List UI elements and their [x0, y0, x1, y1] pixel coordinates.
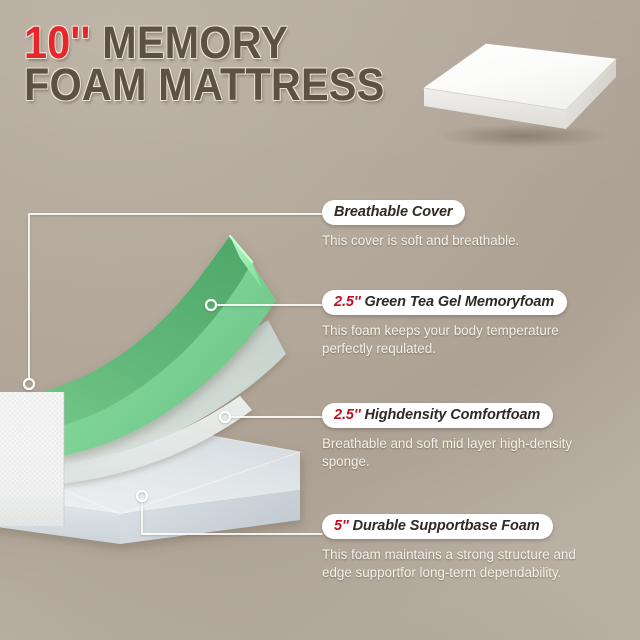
- infographic-canvas: 10'' MEMORY FOAM MATTRESS: [0, 0, 640, 640]
- callout-label-text: Durable Supportbase Foam: [353, 518, 540, 534]
- product-shadow: [436, 124, 608, 148]
- callout-description-breathable-cover: This cover is soft and breathable.: [322, 232, 590, 250]
- callout-highdensity-comfortfoam: 2.5'' Highdensity Comfortfoam Breathable…: [322, 403, 624, 470]
- callout-title-breathable-cover: Breathable Cover: [322, 200, 465, 225]
- callout-description-durable-supportbase-foam: This foam maintains a strong structure a…: [322, 546, 590, 581]
- callout-measure-text: 2.5'': [334, 407, 364, 423]
- title-line-2: FOAM MATTRESS: [24, 64, 410, 106]
- callout-label-text: Breathable Cover: [334, 204, 452, 220]
- callout-breathable-cover: Breathable Cover This cover is soft and …: [322, 200, 624, 250]
- callout-durable-supportbase-foam: 5'' Durable Supportbase Foam This foam m…: [322, 514, 624, 581]
- callout-description-green-tea-gel-memoryfoam: This foam keeps your body temperature pe…: [322, 322, 590, 357]
- product-image: [416, 32, 626, 152]
- callout-title-green-tea-gel-memoryfoam: 2.5'' Green Tea Gel Memoryfoam: [322, 290, 567, 315]
- title-line-1: 10'' MEMORY: [24, 22, 410, 64]
- callout-measure-text: 2.5'': [334, 294, 364, 310]
- callout-green-tea-gel-memoryfoam: 2.5'' Green Tea Gel Memoryfoam This foam…: [322, 290, 624, 357]
- callout-description-highdensity-comfortfoam: Breathable and soft mid layer high-densi…: [322, 435, 590, 470]
- page-title: 10'' MEMORY FOAM MATTRESS: [24, 22, 444, 107]
- cover-fabric-layer: [0, 392, 64, 526]
- title-words-foam-mattress: FOAM MATTRESS: [24, 59, 384, 110]
- callout-measure-text: 5'': [334, 518, 353, 534]
- callout-title-durable-supportbase-foam: 5'' Durable Supportbase Foam: [322, 514, 553, 539]
- mattress-layer-diagram: [0, 196, 330, 546]
- callout-title-highdensity-comfortfoam: 2.5'' Highdensity Comfortfoam: [322, 403, 553, 428]
- callout-label-text: Green Tea Gel Memoryfoam: [364, 294, 554, 310]
- callout-label-text: Highdensity Comfortfoam: [364, 407, 540, 423]
